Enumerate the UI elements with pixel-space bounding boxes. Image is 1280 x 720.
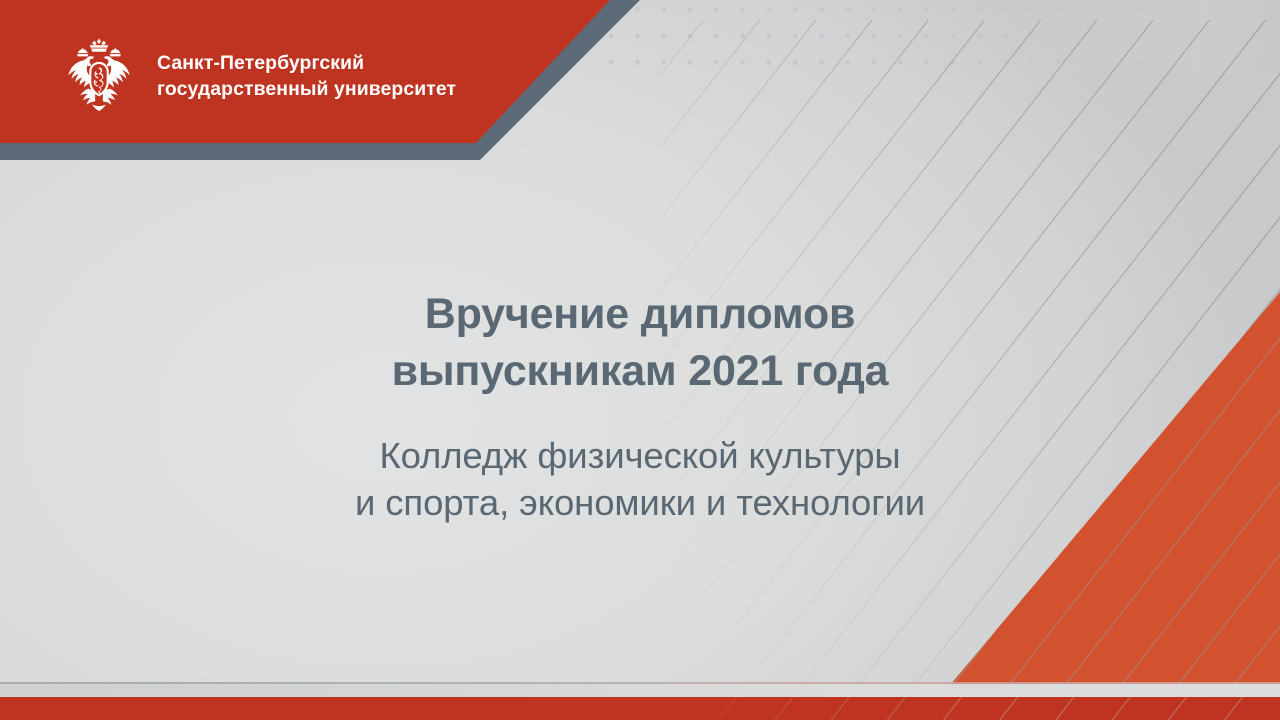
footer-light-band [0, 684, 1280, 697]
double-headed-eagle-emblem-icon [60, 36, 138, 118]
university-logo-lockup: Санкт-Петербургский государственный унив… [60, 36, 456, 118]
university-name-label: Санкт-Петербургский государственный унив… [157, 51, 456, 103]
footer-thin-rule [0, 682, 1280, 684]
dot-pattern-decoration [596, 0, 1280, 74]
title-block: Вручение дипломов выпускникам 2021 года … [0, 286, 1280, 526]
slide-title: Вручение дипломов выпускникам 2021 года [0, 286, 1280, 400]
title-slide: Санкт-Петербургский государственный унив… [0, 0, 1280, 720]
footer-red-bar [0, 697, 1280, 720]
dot-pattern-fade-overlay [596, 0, 1280, 74]
slide-subtitle: Колледж физической культуры и спорта, эк… [0, 432, 1280, 526]
